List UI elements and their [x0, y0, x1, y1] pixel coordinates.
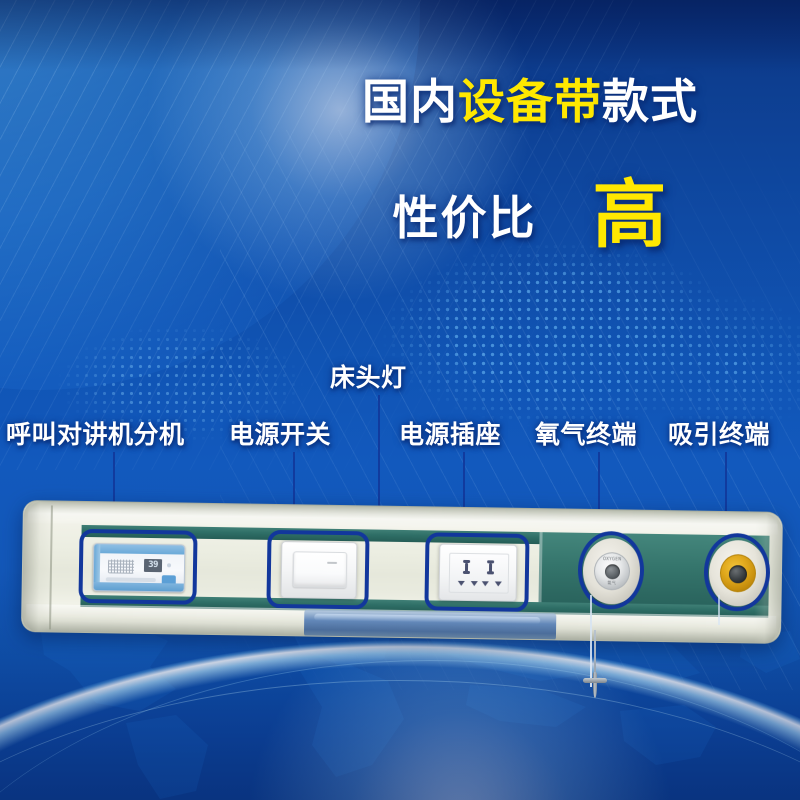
horizon-arc-outer [0, 660, 800, 800]
pull-cord-stem [593, 672, 597, 698]
suction-hose-line [718, 595, 720, 625]
callout-label-power-socket: 电源插座 [399, 415, 501, 451]
highlight-box-power-switch [266, 530, 369, 610]
top-vignette [0, 0, 800, 70]
world-map-silhouette [0, 615, 800, 800]
callout-label-oxygen: 氧气终端 [535, 415, 637, 451]
headline-line-1: 国内设备带款式 [270, 78, 790, 129]
highlight-box-power-socket [424, 532, 529, 612]
callout-label-suction: 吸引终端 [668, 415, 770, 451]
leader-line-power-socket [463, 452, 465, 510]
pull-cord-crossbar [583, 678, 607, 683]
leader-line-power-switch [293, 452, 295, 510]
headline-line2-part1: 性价比 [393, 182, 537, 248]
headline-line-2: 性价比 高 [270, 149, 790, 256]
headline-line1-highlight: 设备带 [458, 75, 602, 130]
headline-block: 国内设备带款式 性价比 高 [270, 78, 790, 256]
headline-line1-part1: 国内 [362, 75, 458, 130]
pull-cord-icon[interactable] [583, 672, 607, 698]
callout-label-power-switch: 电源开关 [229, 415, 331, 451]
callout-label-intercom: 呼叫对讲机分机 [6, 415, 185, 451]
bed-head-unit: 39 [21, 500, 783, 644]
promo-banner: 国内设备带款式 性价比 高 呼叫对讲机分机 电源开关 床头灯 电源插座 氧气终端… [0, 0, 800, 800]
highlight-box-intercom [78, 529, 197, 605]
headline-line1-part3: 款式 [602, 75, 698, 130]
horizon-arc-inner [0, 680, 800, 800]
horizon-glow-arc [0, 640, 800, 800]
headline-line2-highlight: 高 [593, 155, 668, 262]
callout-label-bed-lamp: 床头灯 [330, 358, 407, 394]
